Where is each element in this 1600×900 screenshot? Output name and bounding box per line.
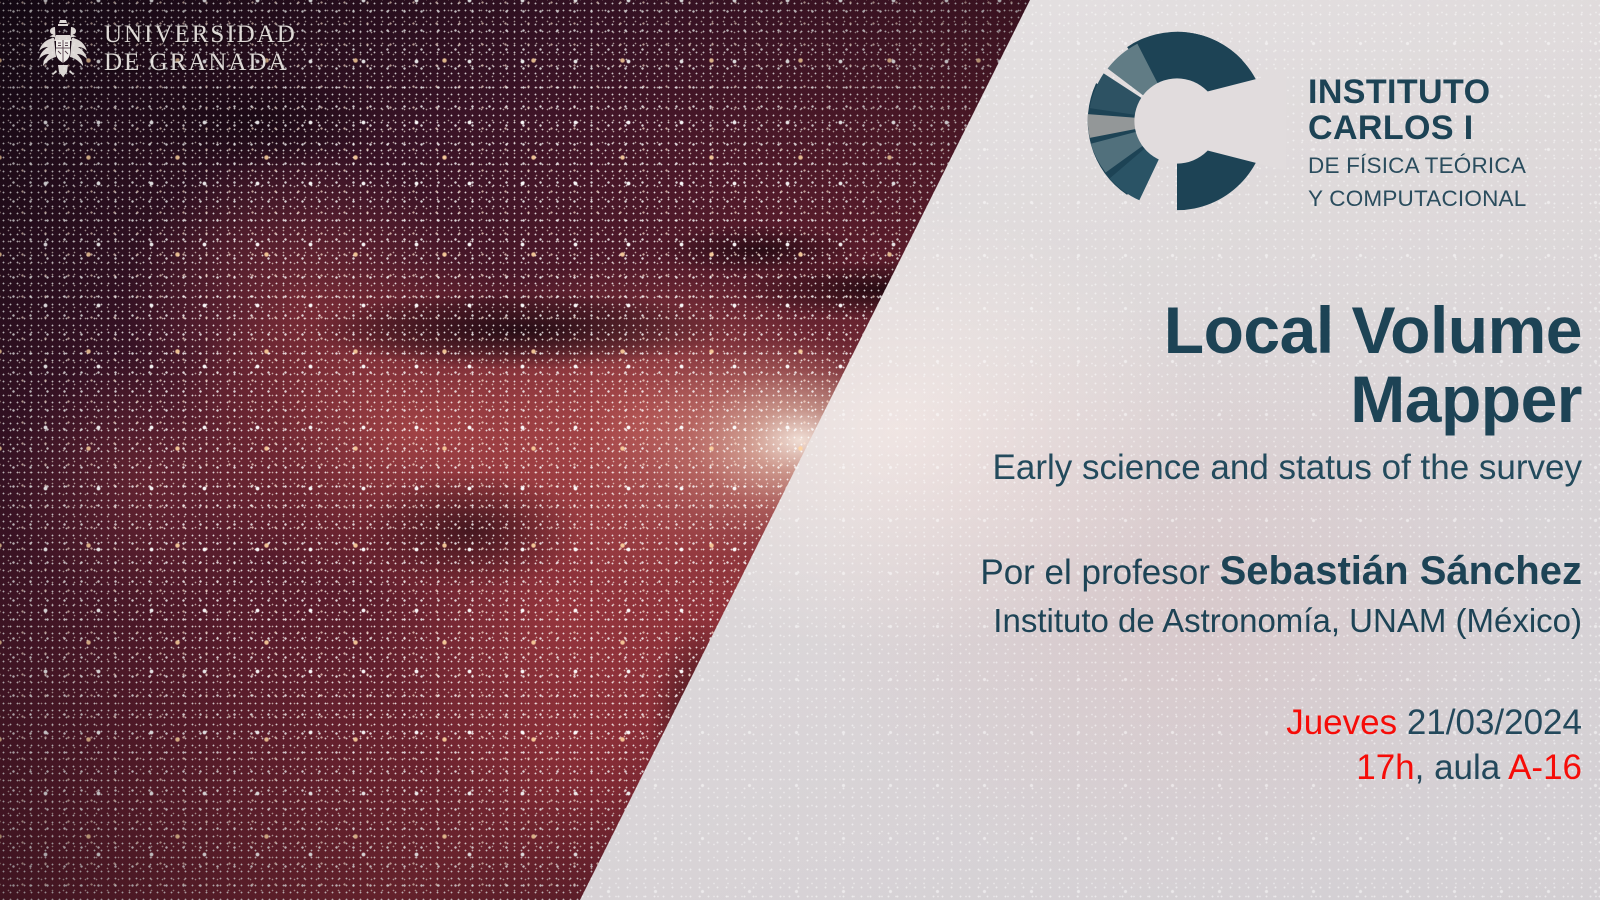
schedule-time-line: 17h, aula A-16 — [840, 745, 1582, 791]
institute-wordmark: INSTITUTO CARLOS I DE FÍSICA TEÓRICA Y C… — [1308, 30, 1526, 211]
speaker-block: Por el profesor Sebastián Sánchez Instit… — [840, 547, 1582, 642]
speaker-affiliation: Instituto de Astronomía, UNAM (México) — [840, 601, 1582, 642]
schedule-block: Jueves 21/03/2024 17h, aula A-16 — [840, 700, 1582, 791]
talk-title-line1: Local Volume — [1164, 293, 1582, 367]
seminar-poster: UNIVERSIDAD DE GRANADA — [0, 0, 1600, 900]
speaker-line: Por el profesor Sebastián Sánchez — [840, 547, 1582, 597]
institute-name-line2: CARLOS I — [1308, 110, 1526, 146]
schedule-weekday: Jueves — [1286, 703, 1397, 742]
university-logo: UNIVERSIDAD DE GRANADA — [36, 18, 297, 80]
university-name-line2: DE GRANADA — [104, 49, 297, 78]
talk-subtitle: Early science and status of the survey — [840, 447, 1582, 489]
schedule-time: 17h — [1356, 748, 1414, 787]
carlos-i-c-monogram-icon — [1068, 12, 1286, 230]
talk-title-line2: Mapper — [840, 365, 1582, 434]
ugr-double-headed-eagle-crest-icon — [36, 18, 90, 80]
poster-content: Local Volume Mapper Early science and st… — [840, 296, 1582, 791]
university-logo-wordmark: UNIVERSIDAD DE GRANADA — [104, 21, 297, 78]
talk-title: Local Volume Mapper — [840, 296, 1582, 433]
schedule-room: A-16 — [1508, 748, 1582, 787]
institute-logo: INSTITUTO CARLOS I DE FÍSICA TEÓRICA Y C… — [1068, 12, 1526, 230]
university-name-line1: UNIVERSIDAD — [104, 21, 297, 50]
speaker-intro: Por el profesor — [980, 553, 1219, 592]
speaker-name: Sebastián Sánchez — [1220, 549, 1582, 593]
institute-name-line1: INSTITUTO — [1308, 74, 1526, 110]
schedule-date: 21/03/2024 — [1397, 703, 1582, 742]
schedule-room-prefix: , aula — [1415, 748, 1508, 787]
schedule-date-line: Jueves 21/03/2024 — [840, 700, 1582, 746]
institute-subtitle-line1: DE FÍSICA TEÓRICA — [1308, 153, 1526, 179]
institute-subtitle-line2: Y COMPUTACIONAL — [1308, 186, 1526, 212]
